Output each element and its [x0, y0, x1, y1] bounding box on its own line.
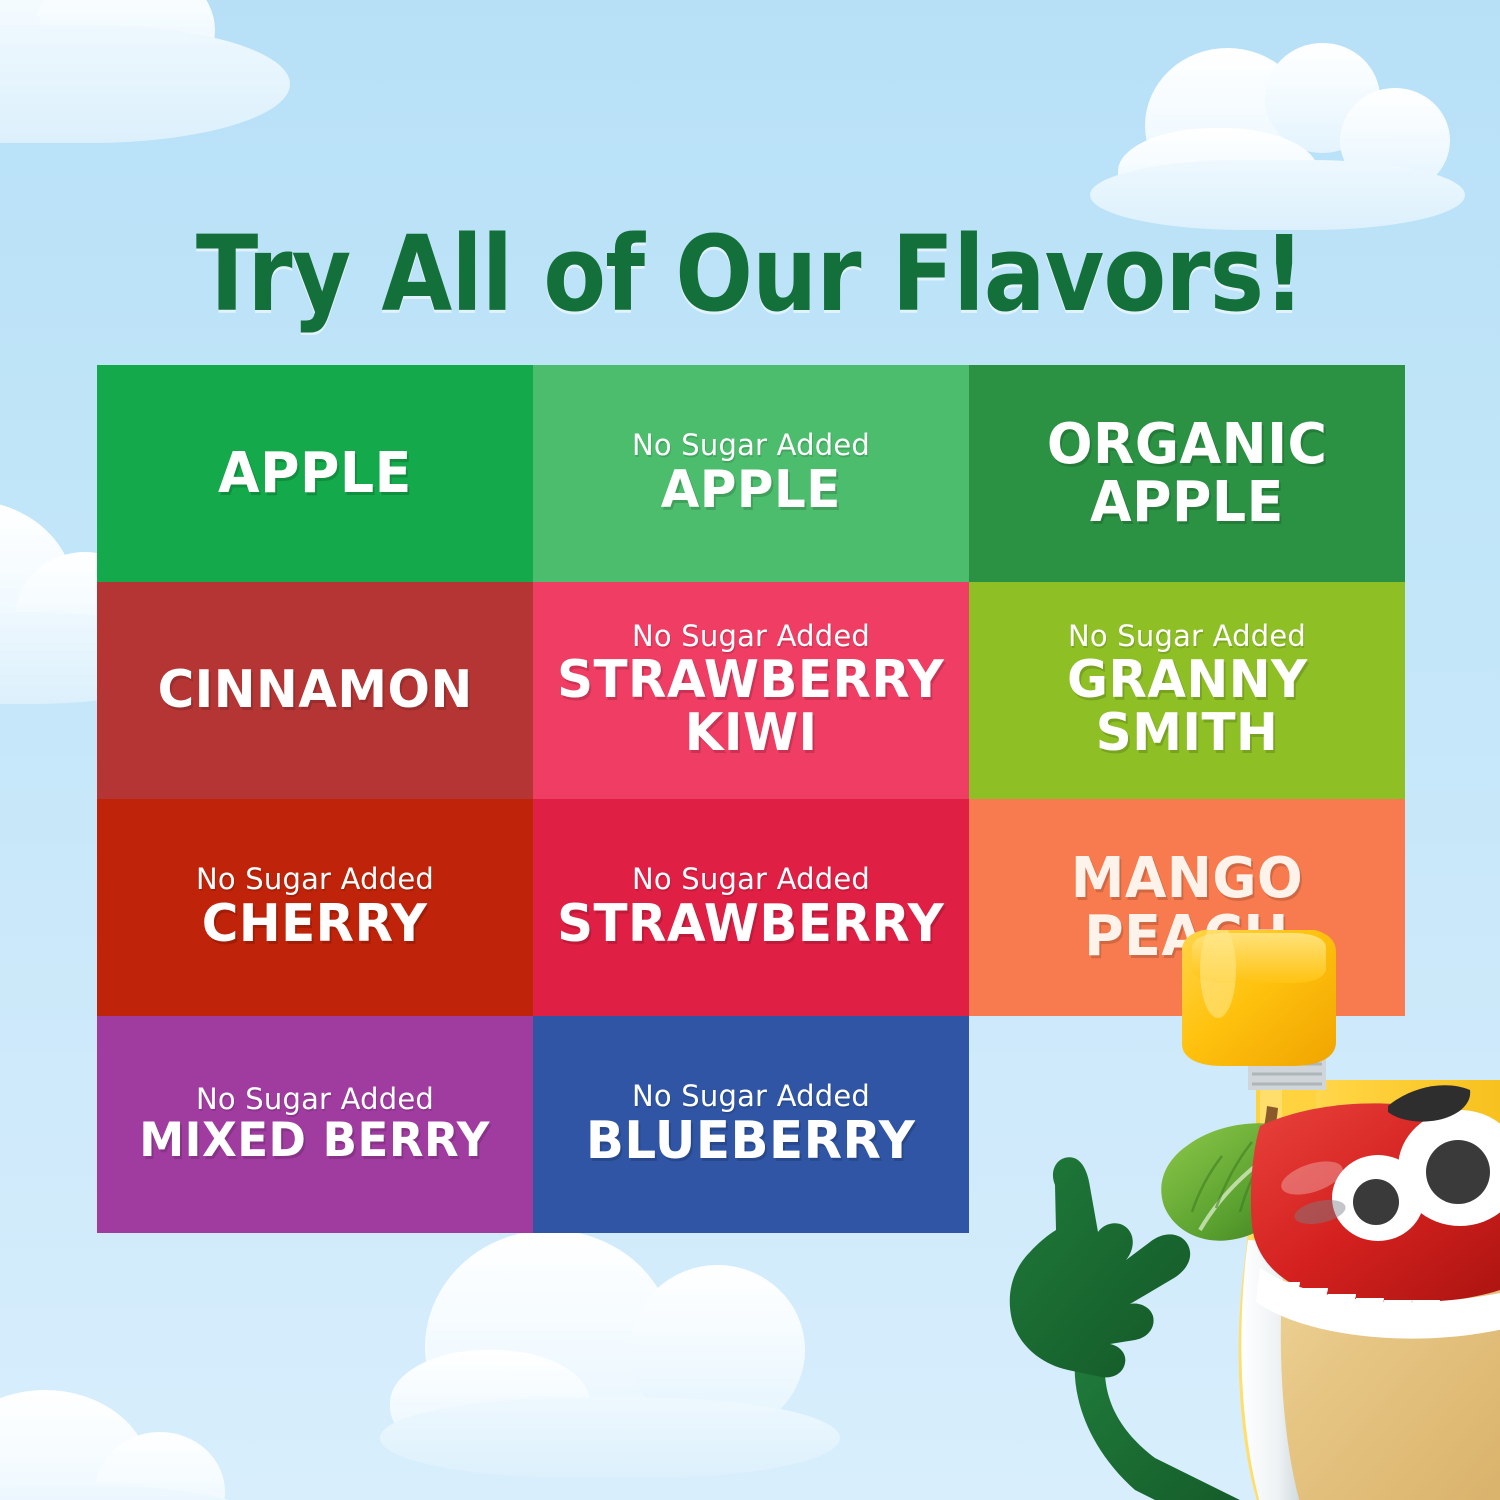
- flavor-name: MIXED BERRY: [140, 1117, 491, 1165]
- no-sugar-added-label: No Sugar Added: [632, 1081, 870, 1111]
- flavor-name-line2: KIWI: [685, 707, 818, 760]
- flavor-name: STRAWBERRY: [557, 654, 944, 707]
- flavor-cell-organic-apple[interactable]: ORGANICAPPLE: [969, 365, 1405, 582]
- no-sugar-added-label: No Sugar Added: [632, 430, 870, 460]
- flavor-name: APPLE: [218, 445, 412, 502]
- no-sugar-added-label: No Sugar Added: [1068, 621, 1306, 651]
- flavor-name-line2: APPLE: [1090, 474, 1284, 531]
- page-title: Try All of Our Flavors!: [90, 222, 1410, 326]
- flavor-cell-no-sugar-added-mixed-berry[interactable]: No Sugar AddedMIXED BERRY: [97, 1016, 533, 1233]
- no-sugar-added-label: No Sugar Added: [196, 864, 434, 894]
- flavors-poster: Try All of Our Flavors! APPLENo Sugar Ad…: [0, 0, 1500, 1500]
- flavor-name: CINNAMON: [157, 664, 472, 717]
- flavor-grid: APPLENo Sugar AddedAPPLEORGANICAPPLECINN…: [97, 365, 1405, 1233]
- flavor-name: CHERRY: [202, 898, 428, 951]
- flavor-cell-mango-peach[interactable]: MANGOPEACH: [969, 799, 1405, 1016]
- flavor-cell-apple[interactable]: APPLE: [97, 365, 533, 582]
- no-sugar-added-label: No Sugar Added: [196, 1084, 434, 1114]
- flavor-name: MANGO: [1071, 850, 1303, 907]
- cloud-top-right: [1090, 40, 1490, 230]
- flavor-name-line2: PEACH: [1085, 908, 1290, 965]
- flavor-name: STRAWBERRY: [557, 898, 944, 951]
- flavor-cell-cinnamon[interactable]: CINNAMON: [97, 582, 533, 799]
- flavor-cell-no-sugar-added-strawberry[interactable]: No Sugar AddedSTRAWBERRY: [533, 799, 969, 1016]
- flavor-cell-no-sugar-added-strawberry-kiwi[interactable]: No Sugar AddedSTRAWBERRYKIWI: [533, 582, 969, 799]
- flavor-name: ORGANIC: [1047, 416, 1328, 473]
- flavor-cell-no-sugar-added-granny-smith[interactable]: No Sugar AddedGRANNYSMITH: [969, 582, 1405, 799]
- flavor-name: GRANNY: [1067, 654, 1308, 707]
- no-sugar-added-label: No Sugar Added: [632, 621, 870, 651]
- flavor-cell-no-sugar-added-blueberry[interactable]: No Sugar AddedBLUEBERRY: [533, 1016, 969, 1233]
- flavor-cell-no-sugar-added-apple[interactable]: No Sugar AddedAPPLE: [533, 365, 969, 582]
- flavor-cell-no-sugar-added-cherry[interactable]: No Sugar AddedCHERRY: [97, 799, 533, 1016]
- flavor-name: BLUEBERRY: [586, 1115, 915, 1168]
- cloud-bottom-left: [0, 1390, 280, 1500]
- flavor-name: APPLE: [661, 464, 841, 517]
- flavor-name-line2: SMITH: [1096, 707, 1278, 760]
- no-sugar-added-label: No Sugar Added: [632, 864, 870, 894]
- cloud-top-left: [0, 0, 330, 155]
- cloud-bottom-center: [380, 1230, 860, 1480]
